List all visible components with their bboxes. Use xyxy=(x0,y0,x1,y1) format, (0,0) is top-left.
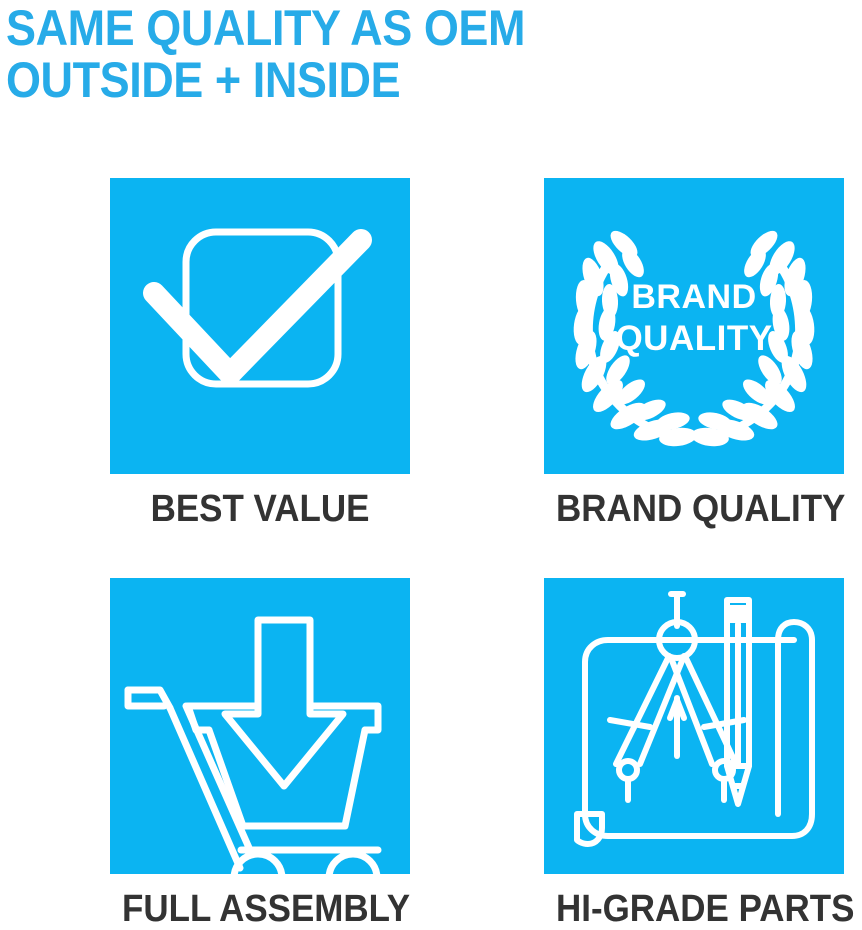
feature-card-best-value[interactable]: BEST VALUE xyxy=(110,178,410,530)
shopping-cart-download-icon xyxy=(110,578,410,874)
feature-icon-tile: BRAND QUALITY xyxy=(544,178,844,474)
blueprint-compass-pencil-icon xyxy=(544,578,844,874)
laurel-wreath-icon xyxy=(544,178,844,474)
feature-card-hi-grade-parts[interactable]: HI-GRADE PARTS xyxy=(544,578,844,930)
feature-icon-tile xyxy=(110,578,410,874)
feature-card-brand-quality[interactable]: BRAND QUALITY BRAND QUALITY xyxy=(544,178,844,530)
checkbox-check-icon xyxy=(110,178,410,474)
feature-caption: HI-GRADE PARTS xyxy=(556,888,832,930)
feature-icon-tile xyxy=(110,178,410,474)
feature-caption: FULL ASSEMBLY xyxy=(122,888,398,930)
feature-caption: BRAND QUALITY xyxy=(556,488,832,530)
feature-caption: BEST VALUE xyxy=(122,488,398,530)
feature-grid: BEST VALUE xyxy=(0,0,862,929)
feature-card-full-assembly[interactable]: FULL ASSEMBLY xyxy=(110,578,410,930)
feature-icon-tile xyxy=(544,578,844,874)
